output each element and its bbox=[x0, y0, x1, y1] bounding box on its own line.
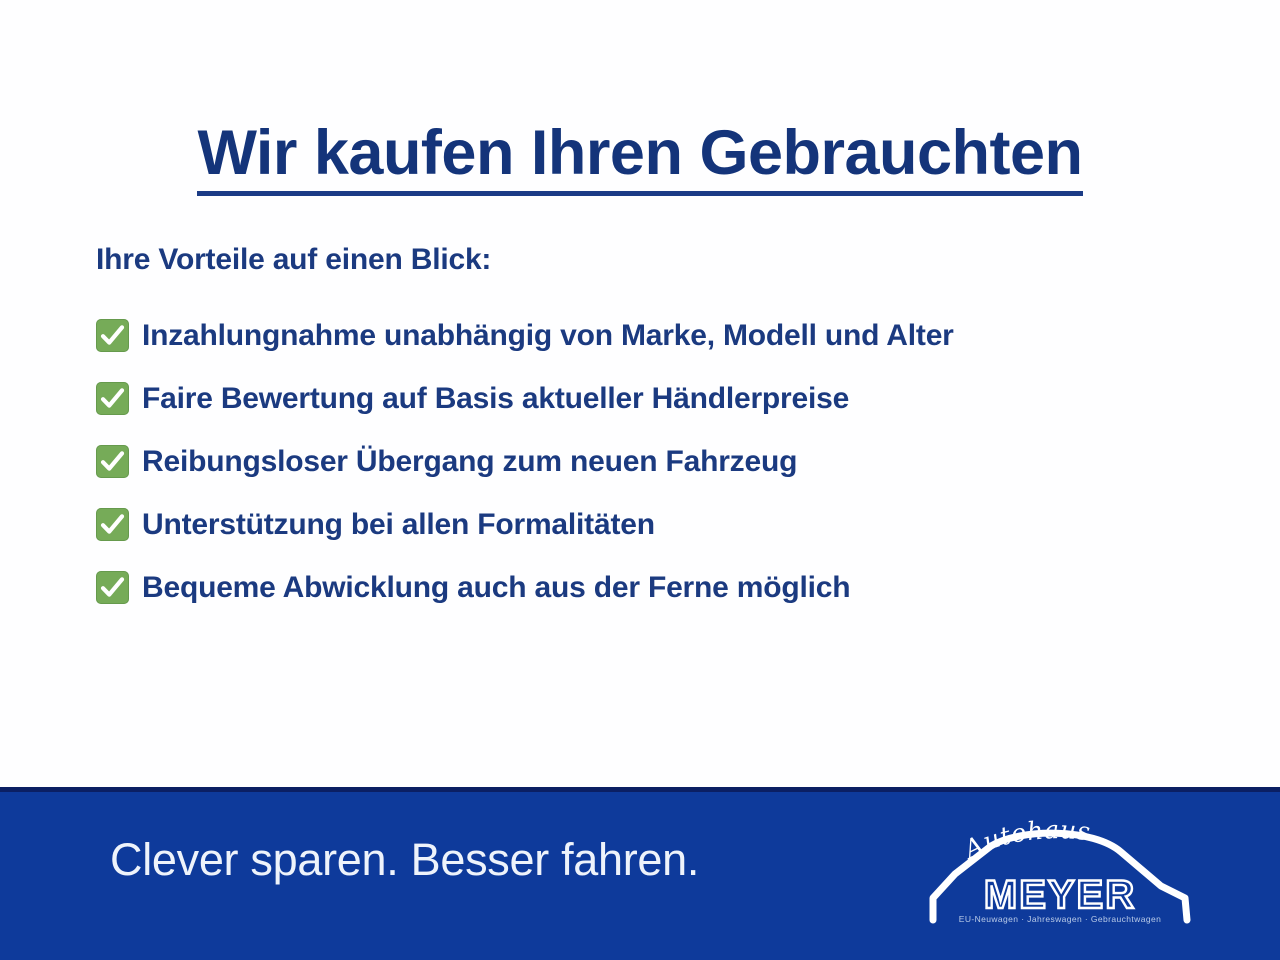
list-item-label: Unterstützung bei allen Formalitäten bbox=[142, 508, 655, 541]
page-title-container: Wir kaufen Ihren Gebrauchten bbox=[0, 78, 1280, 239]
dealer-logo: Autohaus MEYER EU-Neuwagen · Jahreswagen… bbox=[925, 812, 1195, 930]
check-square-icon bbox=[96, 508, 129, 541]
list-item-label: Inzahlungnahme unabhängig von Marke, Mod… bbox=[142, 319, 954, 352]
list-item: Faire Bewertung auf Basis aktueller Händ… bbox=[96, 367, 1226, 430]
list-item-label: Bequeme Abwicklung auch aus der Ferne mö… bbox=[142, 571, 850, 604]
benefits-section: Ihre Vorteile auf einen Blick: Inzahlung… bbox=[96, 243, 1226, 619]
page-title: Wir kaufen Ihren Gebrauchten bbox=[197, 120, 1082, 196]
footer-bar: Clever sparen. Besser fahren. Autohaus M… bbox=[0, 787, 1280, 960]
list-item: Inzahlungnahme unabhängig von Marke, Mod… bbox=[96, 304, 1226, 367]
list-item: Reibungsloser Übergang zum neuen Fahrzeu… bbox=[96, 430, 1226, 493]
check-square-icon bbox=[96, 382, 129, 415]
check-square-icon bbox=[96, 319, 129, 352]
benefits-heading: Ihre Vorteile auf einen Blick: bbox=[96, 243, 1226, 276]
logo-wordmark: MEYER bbox=[984, 873, 1136, 917]
list-item: Unterstützung bei allen Formalitäten bbox=[96, 493, 1226, 556]
advert-page: Wir kaufen Ihren Gebrauchten Ihre Vortei… bbox=[0, 0, 1280, 960]
check-square-icon bbox=[96, 571, 129, 604]
benefits-list: Inzahlungnahme unabhängig von Marke, Mod… bbox=[96, 304, 1226, 619]
list-item-label: Faire Bewertung auf Basis aktueller Händ… bbox=[142, 382, 849, 415]
footer-slogan: Clever sparen. Besser fahren. bbox=[110, 834, 699, 886]
check-square-icon bbox=[96, 445, 129, 478]
list-item: Bequeme Abwicklung auch aus der Ferne mö… bbox=[96, 556, 1226, 619]
logo-tagline: EU-Neuwagen · Jahreswagen · Gebrauchtwag… bbox=[959, 914, 1161, 924]
logo-script-text: Autohaus bbox=[958, 815, 1092, 865]
list-item-label: Reibungsloser Übergang zum neuen Fahrzeu… bbox=[142, 445, 797, 478]
